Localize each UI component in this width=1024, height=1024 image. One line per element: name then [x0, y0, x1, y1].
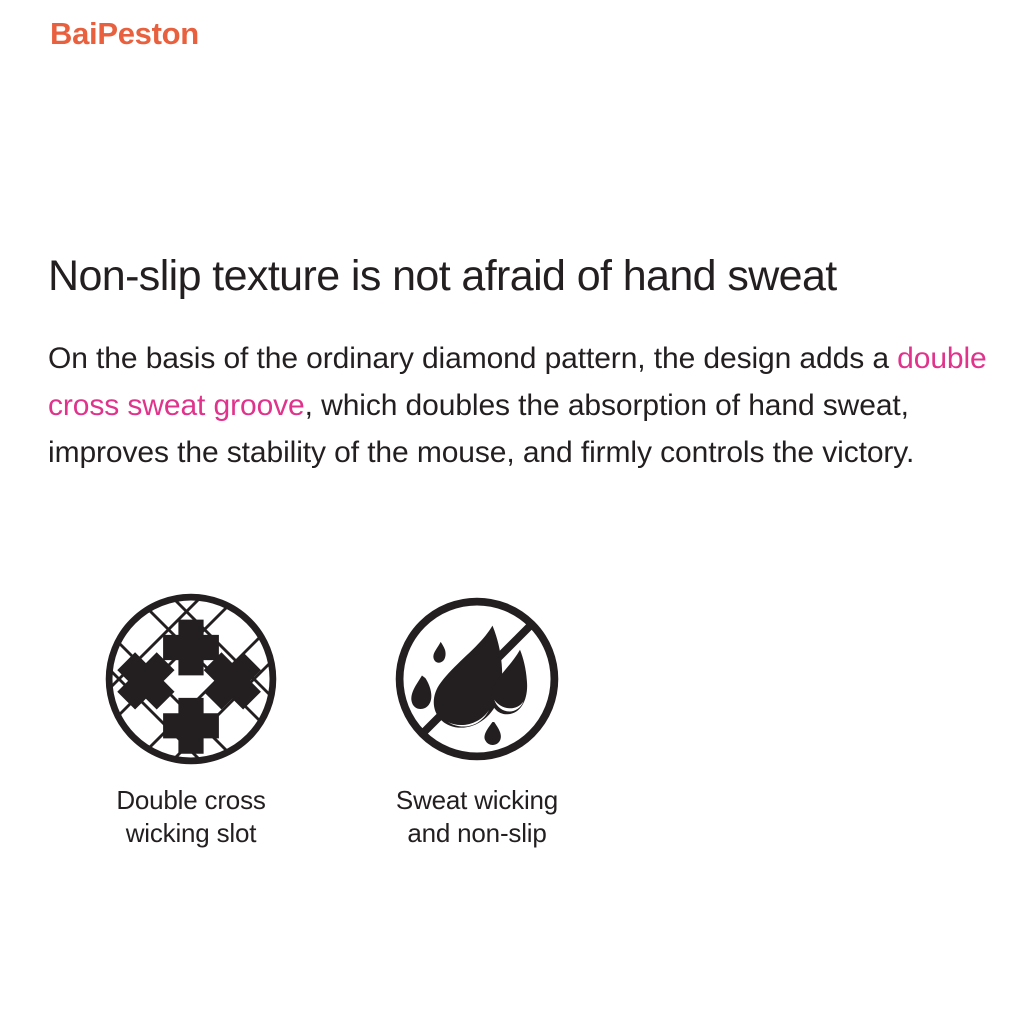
feature-icon-row: Double cross wicking slot [48, 586, 608, 866]
no-sweat-droplet-icon [362, 586, 592, 772]
product-feature-page: BaiPeston Non-slip texture is not afraid… [0, 0, 1024, 1024]
feature-caption-line-1: Double cross [76, 784, 306, 817]
body-paragraph: On the basis of the ordinary diamond pat… [48, 335, 1010, 476]
feature-item-double-cross: Double cross wicking slot [76, 586, 306, 850]
feature-caption-line-2: wicking slot [76, 817, 306, 850]
double-cross-wicking-slot-icon [76, 586, 306, 772]
feature-caption: Double cross wicking slot [76, 784, 306, 850]
feature-item-sweat-wicking: Sweat wicking and non-slip [362, 586, 592, 850]
feature-caption-line-2: and non-slip [362, 817, 592, 850]
body-text-part-1: On the basis of the ordinary diamond pat… [48, 342, 897, 375]
feature-caption: Sweat wicking and non-slip [362, 784, 592, 850]
page-title: Non-slip texture is not afraid of hand s… [48, 251, 998, 301]
brand-logo: BaiPeston [50, 14, 199, 54]
feature-caption-line-1: Sweat wicking [362, 784, 592, 817]
